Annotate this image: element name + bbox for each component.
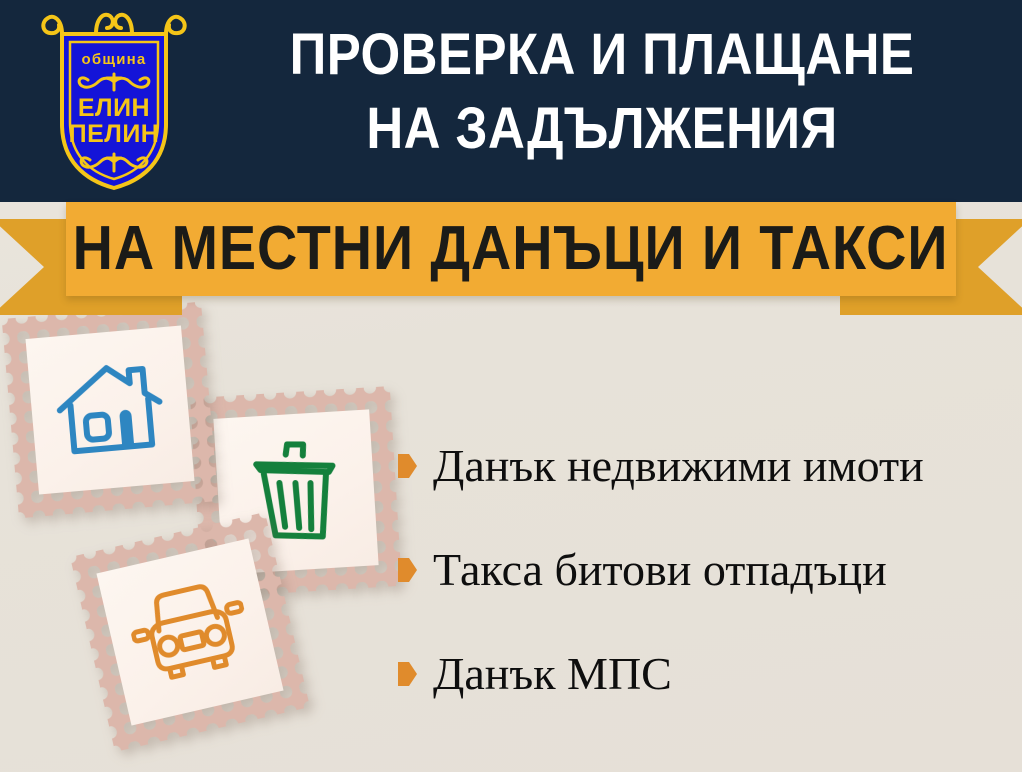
crest-name-line1: ЕЛИН	[78, 94, 150, 122]
stamp-illustration-group	[0, 300, 430, 772]
list-item-label: Данък недвижими имоти	[433, 441, 924, 491]
municipality-crest-logo: община ЕЛИН ПЕЛИН	[36, 8, 192, 194]
tax-type-list: Данък недвижими имоти Такса битови отпад…	[398, 414, 1018, 726]
header-bar: община ЕЛИН ПЕЛИН	[0, 0, 1022, 202]
stamp-inner-property	[25, 325, 194, 494]
list-item-label: Данък МПС	[433, 649, 672, 699]
stamp-inner-vehicle	[96, 538, 283, 725]
arrow-bullet-icon	[398, 662, 417, 686]
arrow-bullet-icon	[398, 454, 417, 478]
poster-canvas: община ЕЛИН ПЕЛИН	[0, 0, 1022, 772]
page-title-line1: ПРОВЕРКА И ПЛАЩАНЕ	[245, 18, 960, 92]
list-item[interactable]: Данък недвижими имоти	[398, 414, 1018, 518]
ribbon-label: НА МЕСТНИ ДАНЪЦИ И ТАКСИ	[73, 218, 949, 280]
house-icon	[50, 355, 170, 464]
list-item[interactable]: Такса битови отпадъци	[398, 518, 1018, 622]
page-title-line2: НА ЗАДЪЛЖЕНИЯ	[245, 92, 960, 166]
arrow-bullet-icon	[398, 558, 417, 582]
car-icon	[123, 572, 258, 692]
stamp-card-property	[2, 302, 219, 519]
ribbon-band: НА МЕСТНИ ДАНЪЦИ И ТАКСИ	[66, 202, 956, 296]
list-item[interactable]: Данък МПС	[398, 622, 1018, 726]
crest-label-top: община	[82, 51, 147, 68]
list-item-label: Такса битови отпадъци	[433, 545, 887, 595]
subtitle-ribbon: НА МЕСТНИ ДАНЪЦИ И ТАКСИ	[0, 198, 1022, 316]
page-title: ПРОВЕРКА И ПЛАЩАНЕ НА ЗАДЪЛЖЕНИЯ	[245, 18, 960, 166]
crest-name-line2: ПЕЛИН	[69, 120, 160, 148]
